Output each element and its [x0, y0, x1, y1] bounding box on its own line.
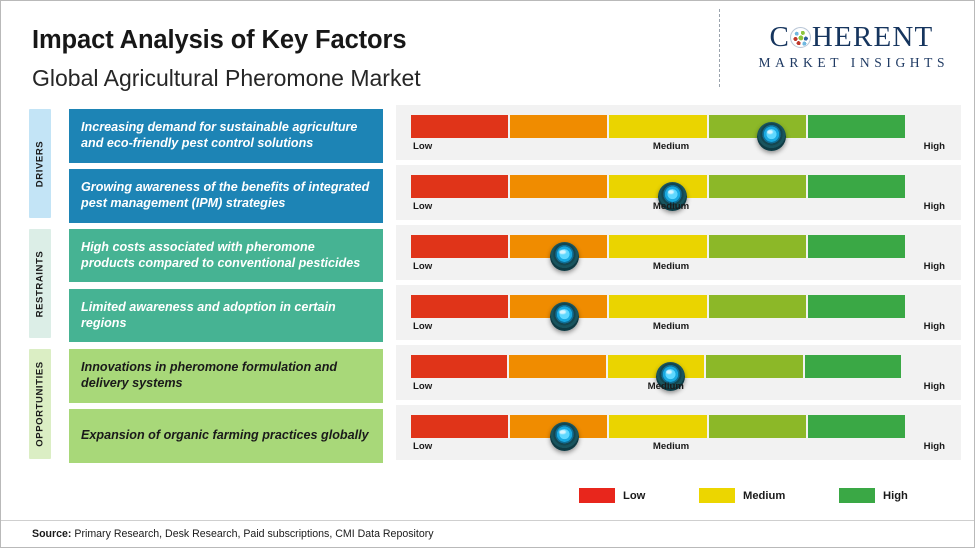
legend-label-medium: Medium: [743, 490, 785, 502]
gauge-scale-labels: Low Medium High: [411, 141, 931, 155]
scale-label-low: Low: [413, 381, 432, 392]
gauge-scale-labels: Low Medium High: [411, 321, 931, 335]
gauge-segment-medium: [609, 235, 706, 258]
gauge-segment-low: [411, 415, 508, 438]
gauge-bar: [411, 235, 905, 258]
gauge-segment-low-medium: [510, 175, 607, 198]
scale-label-high: High: [924, 141, 945, 152]
gauge-segment-low-medium: [509, 355, 605, 378]
legend: Low Medium High: [579, 488, 919, 508]
factor-box: Increasing demand for sustainable agricu…: [69, 109, 383, 163]
scale-label-low: Low: [413, 141, 432, 152]
coherent-market-insights-logo: CHERENT MARKET INSIGHTS: [739, 23, 964, 71]
gauge-scale-labels: Low Medium High: [411, 201, 931, 215]
legend-swatch-low: [579, 488, 615, 503]
gauge-segment-low: [411, 115, 508, 138]
logo-wordmark-rest: HERENT: [812, 21, 934, 53]
gauge-segment-low: [411, 295, 508, 318]
gauge-segment-low-medium: [510, 115, 607, 138]
gauge-segment-high: [808, 115, 905, 138]
gauge-segment-medium-high: [709, 235, 806, 258]
scale-label-medium: Medium: [653, 261, 689, 272]
logo-letter-c: C: [770, 21, 789, 53]
gauge-segment-low: [411, 355, 507, 378]
factor-box: Innovations in pheromone formulation and…: [69, 349, 383, 403]
gauge-segment-medium: [609, 295, 706, 318]
gauge-segment-medium: [609, 115, 706, 138]
scale-label-medium: Medium: [648, 381, 684, 392]
infographic-slide: Impact Analysis of Key Factors Global Ag…: [0, 0, 975, 548]
legend-label-high: High: [883, 490, 908, 502]
footer-divider: [1, 520, 975, 521]
gauge-segment-medium-high: [709, 295, 806, 318]
gauge-scale-labels: Low Medium High: [411, 441, 931, 455]
factor-box: Expansion of organic farming practices g…: [69, 409, 383, 463]
gauge-segment-high: [808, 295, 905, 318]
gauge-segment-high: [808, 175, 905, 198]
legend-item-high: High: [839, 488, 908, 503]
scale-label-low: Low: [413, 201, 432, 212]
factor-box: Growing awareness of the benefits of int…: [69, 169, 383, 223]
gauge-segment-medium: [609, 415, 706, 438]
gauge-segment-low: [411, 235, 508, 258]
factor-box: Limited awareness and adoption in certai…: [69, 289, 383, 342]
gauge-segment-medium-high: [709, 175, 806, 198]
logo-divider: [719, 9, 720, 87]
category-strip-restraints: RESTRAINTS: [29, 229, 51, 338]
scale-label-low: Low: [413, 261, 432, 272]
source-text: Primary Research, Desk Research, Paid su…: [71, 528, 433, 540]
gauge-segment-low: [411, 175, 508, 198]
category-strip-opportunities: OPPORTUNITIES: [29, 349, 51, 459]
scale-label-medium: Medium: [653, 141, 689, 152]
source-note: Source: Primary Research, Desk Research,…: [32, 528, 434, 540]
legend-item-low: Low: [579, 488, 645, 503]
header: Impact Analysis of Key Factors Global Ag…: [1, 1, 975, 97]
gauge-bar: [411, 355, 901, 378]
legend-label-low: Low: [623, 490, 645, 502]
scale-label-medium: Medium: [653, 441, 689, 452]
legend-swatch-high: [839, 488, 875, 503]
factor-box: High costs associated with pheromone pro…: [69, 229, 383, 282]
gauge-row: Low Medium High: [396, 345, 961, 400]
gauge-segment-high: [808, 235, 905, 258]
gauge-bar: [411, 115, 905, 138]
scale-label-medium: Medium: [653, 321, 689, 332]
gauge-row: Low Medium High: [396, 405, 961, 460]
scale-label-high: High: [924, 261, 945, 272]
gauge-scale-labels: Low Medium High: [411, 381, 931, 395]
category-label-restraints: RESTRAINTS: [35, 250, 46, 317]
logo-tagline: MARKET INSIGHTS: [739, 55, 964, 71]
gauge-bar: [411, 295, 905, 318]
gauge-scale-labels: Low Medium High: [411, 261, 931, 275]
gauge-row: Low Medium High: [396, 105, 961, 160]
page-title: Impact Analysis of Key Factors: [32, 26, 406, 55]
page-subtitle: Global Agricultural Pheromone Market: [32, 65, 421, 92]
scale-label-low: Low: [413, 441, 432, 452]
gauge-row: Low Medium High: [396, 285, 961, 340]
category-label-opportunities: OPPORTUNITIES: [35, 361, 46, 446]
scale-label-low: Low: [413, 321, 432, 332]
gauge-bar: [411, 175, 905, 198]
scale-label-high: High: [924, 201, 945, 212]
source-label: Source:: [32, 528, 71, 540]
legend-item-medium: Medium: [699, 488, 785, 503]
gauge-bar: [411, 415, 905, 438]
gauge-row: Low Medium High: [396, 225, 961, 280]
globe-icon: [790, 27, 811, 48]
gauge-segment-medium-high: [706, 355, 802, 378]
scale-label-high: High: [924, 441, 945, 452]
category-label-drivers: DRIVERS: [35, 140, 46, 186]
logo-wordmark: CHERENT: [770, 23, 934, 52]
gauge-segment-high: [808, 415, 905, 438]
scale-label-high: High: [924, 321, 945, 332]
gauge-segment-high: [805, 355, 901, 378]
gauge-segment-medium-high: [709, 415, 806, 438]
gauge-row: Low Medium High: [396, 165, 961, 220]
scale-label-high: High: [924, 381, 945, 392]
scale-label-medium: Medium: [653, 201, 689, 212]
category-strip-drivers: DRIVERS: [29, 109, 51, 218]
legend-swatch-medium: [699, 488, 735, 503]
